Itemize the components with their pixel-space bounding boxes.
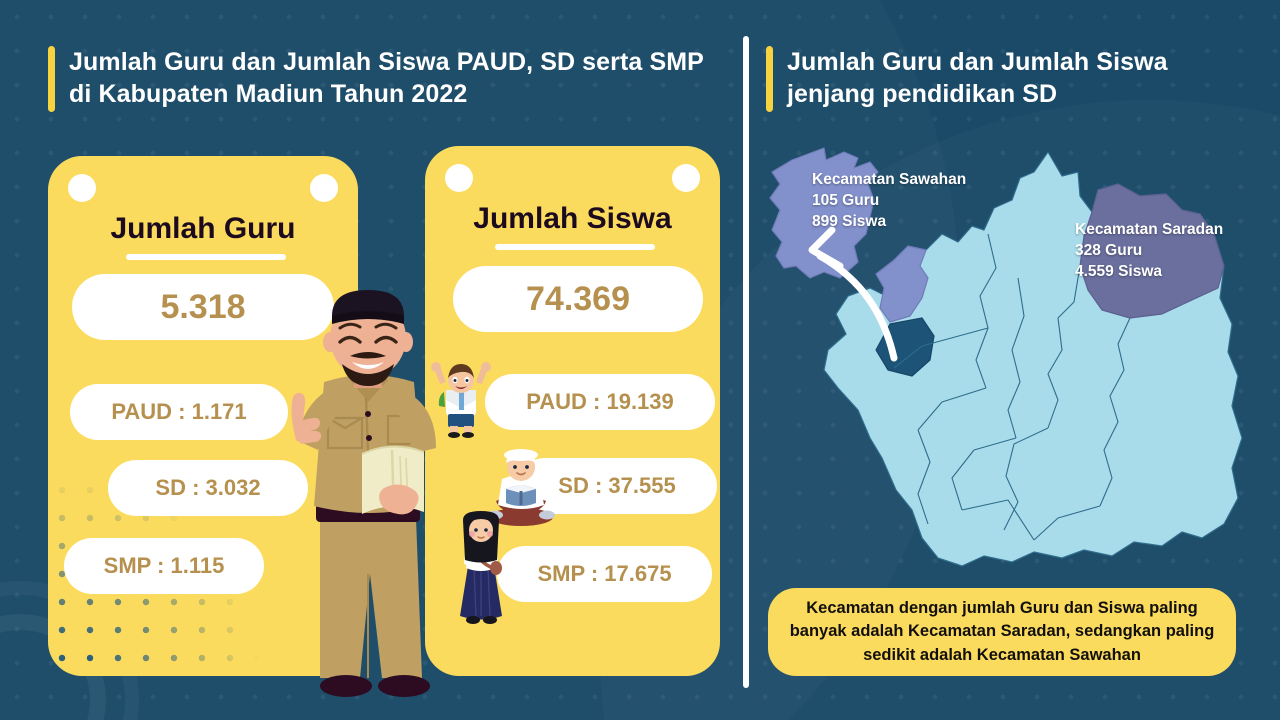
right-panel-title: Jumlah Guru dan Jumlah Siswa jenjang pen… (766, 46, 1236, 112)
left-panel-title: Jumlah Guru dan Jumlah Siswa PAUD, SD se… (48, 46, 708, 112)
jumlah-guru-heading: Jumlah Guru (48, 212, 358, 246)
map-label-saradan-district: Kecamatan Saradan (1075, 220, 1223, 241)
card-punch-hole-right (310, 174, 338, 202)
map-label-saradan-guru: 328 Guru (1075, 241, 1223, 262)
panel-divider (743, 36, 749, 688)
card-punch-hole-right (672, 164, 700, 192)
heading-underline (126, 254, 286, 260)
map-caption-box: Kecamatan dengan jumlah Guru dan Siswa p… (768, 588, 1236, 676)
map-label-sawahan: Kecamatan Sawahan 105 Guru 899 Siswa (812, 170, 966, 233)
title-accent-bar (48, 46, 55, 112)
map-label-saradan: Kecamatan Saradan 328 Guru 4.559 Siswa (1075, 220, 1223, 283)
jumlah-siswa-paud-row: PAUD : 19.139 (485, 374, 715, 430)
jumlah-siswa-total-value: 74.369 (453, 266, 703, 332)
jumlah-siswa-heading: Jumlah Siswa (425, 202, 720, 236)
teacher-illustration (258, 290, 478, 720)
jumlah-guru-paud-row: PAUD : 1.171 (70, 384, 288, 440)
map-label-saradan-siswa: 4.559 Siswa (1075, 262, 1223, 283)
map-label-sawahan-siswa: 899 Siswa (812, 212, 966, 233)
heading-underline (495, 244, 655, 250)
map-label-sawahan-district: Kecamatan Sawahan (812, 170, 966, 191)
map-label-sawahan-guru: 105 Guru (812, 191, 966, 212)
left-panel-title-text: Jumlah Guru dan Jumlah Siswa PAUD, SD se… (69, 46, 708, 110)
map-caption-text: Kecamatan dengan jumlah Guru dan Siswa p… (786, 597, 1218, 667)
jumlah-siswa-smp-row: SMP : 17.675 (497, 546, 712, 602)
jumlah-guru-smp-row: SMP : 1.115 (64, 538, 264, 594)
card-punch-hole-left (68, 174, 96, 202)
right-panel-title-text: Jumlah Guru dan Jumlah Siswa jenjang pen… (787, 46, 1236, 110)
title-accent-bar (766, 46, 773, 112)
card-punch-hole-left (445, 164, 473, 192)
